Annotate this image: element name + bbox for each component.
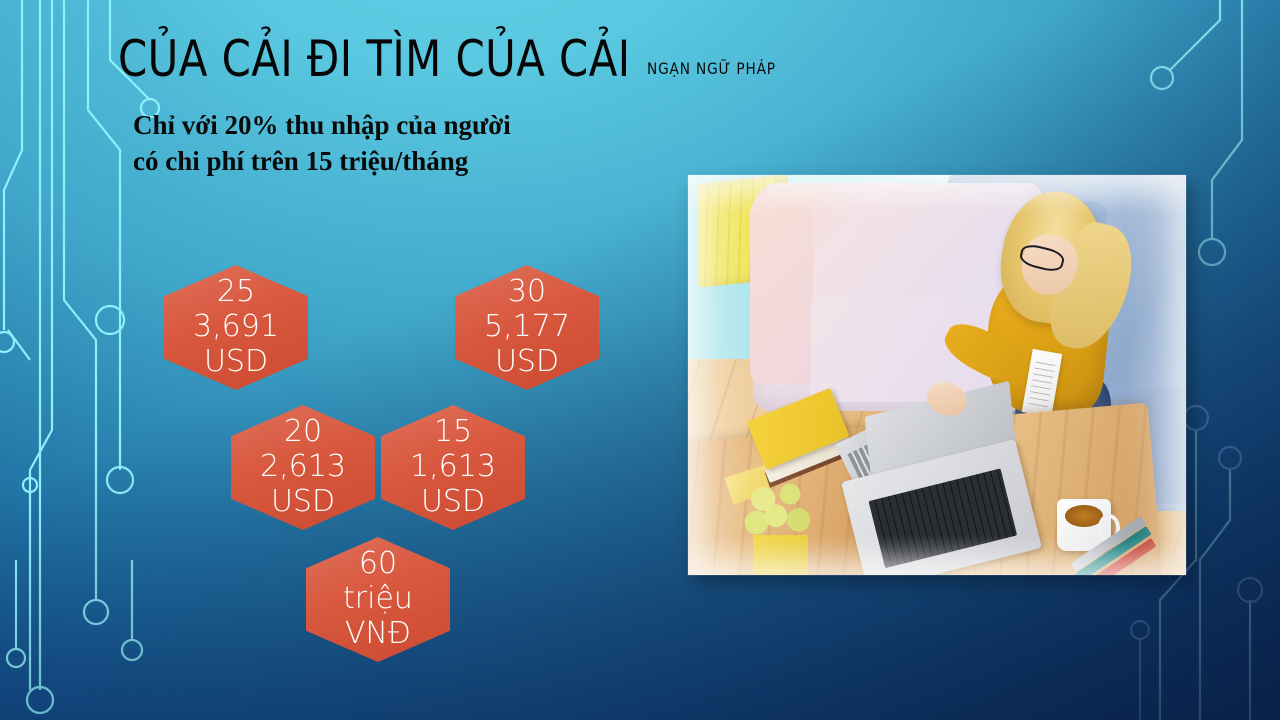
photo-armchair-arm bbox=[750, 192, 814, 384]
photo-plant-foliage bbox=[738, 475, 823, 543]
slide-canvas: CỦA CẢI ĐI TÌM CỦA CẢI NGẠN NGỮ PHÁP Chỉ… bbox=[0, 0, 1280, 720]
hex-line-1: 30 bbox=[508, 275, 546, 310]
hex-line-1: 15 bbox=[434, 415, 472, 450]
hex-line-1: 60 bbox=[359, 547, 397, 582]
photo-scene bbox=[688, 175, 1186, 575]
hex-60-trieu-vnd[interactable]: 60 triệu VNĐ bbox=[306, 537, 450, 662]
hex-line-2: triệu bbox=[343, 582, 413, 617]
hex-line-2: 1,613 bbox=[410, 450, 496, 485]
hex-15-1613-usd[interactable]: 15 1,613 USD bbox=[381, 405, 525, 530]
hex-line-3: USD bbox=[271, 485, 335, 520]
hex-line-3: USD bbox=[495, 345, 559, 380]
hex-line-1: 25 bbox=[217, 275, 255, 310]
hex-30-5177-usd[interactable]: 30 5,177 USD bbox=[455, 265, 599, 390]
hex-line-2: 2,613 bbox=[260, 450, 346, 485]
hex-line-2: 3,691 bbox=[193, 310, 279, 345]
hex-20-2613-usd[interactable]: 20 2,613 USD bbox=[231, 405, 375, 530]
photo-laptop-keyboard bbox=[868, 468, 1017, 568]
hex-line-3: VNĐ bbox=[345, 617, 411, 652]
hex-line-3: USD bbox=[421, 485, 485, 520]
hex-25-3691-usd[interactable]: 25 3,691 USD bbox=[164, 265, 308, 390]
lede-text: Chỉ với 20% thu nhập của người có chi ph… bbox=[133, 108, 511, 180]
photo-woman-working-laptop bbox=[688, 175, 1186, 575]
hex-line-3: USD bbox=[204, 345, 268, 380]
hex-line-1: 20 bbox=[284, 415, 322, 450]
title-attribution: NGẠN NGỮ PHÁP bbox=[647, 59, 776, 78]
title-block: CỦA CẢI ĐI TÌM CỦA CẢI NGẠN NGỮ PHÁP bbox=[118, 34, 819, 84]
page-title: CỦA CẢI ĐI TÌM CỦA CẢI bbox=[118, 34, 631, 84]
hex-line-2: 5,177 bbox=[484, 310, 570, 345]
